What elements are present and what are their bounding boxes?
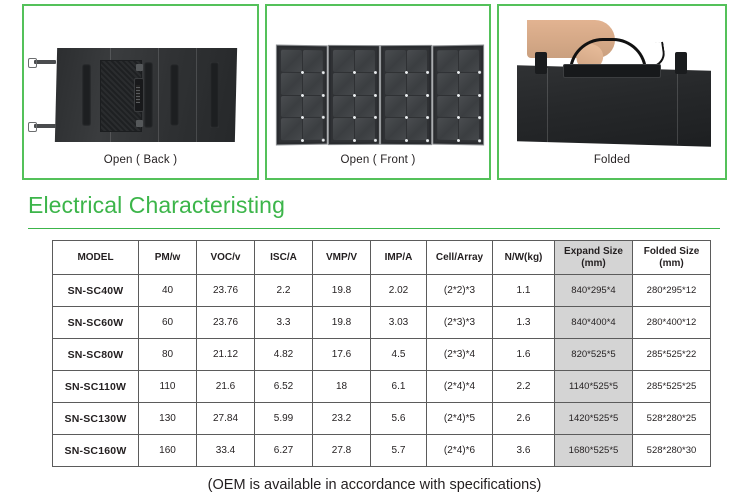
- cell-expand-size: 820*525*5: [555, 339, 633, 371]
- table-row: SN-SC130W 130 27.84 5.99 23.2 5.6 (2*4)*…: [53, 403, 711, 435]
- cell-pm: 60: [139, 307, 197, 339]
- cell-folded-size: 528*280*30: [633, 435, 711, 467]
- gallery-caption-open-back: Open ( Back ): [24, 154, 257, 166]
- column-header-expand-size-line2: (mm): [581, 258, 605, 269]
- cell-pm: 130: [139, 403, 197, 435]
- cell-vmp: 17.6: [313, 339, 371, 371]
- table-row: SN-SC110W 110 21.6 6.52 18 6.1 (2*4)*4 2…: [53, 371, 711, 403]
- column-header-cell-array: Cell/Array: [427, 241, 493, 275]
- cell-cell-array: (2*4)*5: [427, 403, 493, 435]
- cell-model: SN-SC40W: [53, 275, 139, 307]
- cell-isc: 2.2: [255, 275, 313, 307]
- table-body: SN-SC40W 40 23.76 2.2 19.8 2.02 (2*2)*3 …: [53, 275, 711, 467]
- column-header-model: MODEL: [53, 241, 139, 275]
- cell-vmp: 23.2: [313, 403, 371, 435]
- cell-expand-size: 840*400*4: [555, 307, 633, 339]
- column-header-pm: PM/w: [139, 241, 197, 275]
- table-row: SN-SC160W 160 33.4 6.27 27.8 5.7 (2*4)*6…: [53, 435, 711, 467]
- cell-voc: 27.84: [197, 403, 255, 435]
- cell-pm: 110: [139, 371, 197, 403]
- table-row: SN-SC60W 60 23.76 3.3 19.8 3.03 (2*3)*3 …: [53, 307, 711, 339]
- column-header-voc: VOC/v: [197, 241, 255, 275]
- cell-folded-size: 528*280*25: [633, 403, 711, 435]
- section-title: Electrical Characteristing: [28, 192, 285, 219]
- cell-net-weight: 1.6: [493, 339, 555, 371]
- column-header-expand-size: Expand Size (mm): [555, 241, 633, 275]
- table-header-row: MODEL PM/w VOC/v ISC/A VMP/V IMP/A Cell/…: [53, 241, 711, 275]
- cell-vmp: 27.8: [313, 435, 371, 467]
- cell-voc: 23.76: [197, 307, 255, 339]
- cell-isc: 3.3: [255, 307, 313, 339]
- cell-net-weight: 1.1: [493, 275, 555, 307]
- table-row: SN-SC40W 40 23.76 2.2 19.8 2.02 (2*2)*3 …: [53, 275, 711, 307]
- column-header-expand-size-line1: Expand Size: [564, 246, 623, 257]
- cell-net-weight: 2.2: [493, 371, 555, 403]
- cell-voc: 23.76: [197, 275, 255, 307]
- column-header-isc: ISC/A: [255, 241, 313, 275]
- cell-vmp: 18: [313, 371, 371, 403]
- electrical-characteristics-table: MODEL PM/w VOC/v ISC/A VMP/V IMP/A Cell/…: [52, 240, 711, 467]
- cell-folded-size: 280*400*12: [633, 307, 711, 339]
- cell-expand-size: 1140*525*5: [555, 371, 633, 403]
- cell-voc: 21.6: [197, 371, 255, 403]
- cell-imp: 2.02: [371, 275, 427, 307]
- cell-net-weight: 1.3: [493, 307, 555, 339]
- column-header-folded-size: Folded Size (mm): [633, 241, 711, 275]
- gallery-caption-folded: Folded: [499, 154, 725, 166]
- cell-pm: 40: [139, 275, 197, 307]
- column-header-vmp: VMP/V: [313, 241, 371, 275]
- gallery-panel-folded: Folded: [497, 4, 727, 180]
- gallery-caption-open-front: Open ( Front ): [267, 154, 489, 166]
- solar-panel-folded-photo: [499, 6, 725, 154]
- oem-footnote: (OEM is available in accordance with spe…: [0, 477, 749, 493]
- cell-imp: 4.5: [371, 339, 427, 371]
- cell-folded-size: 285*525*25: [633, 371, 711, 403]
- gallery-panel-open-back: Open ( Back ): [22, 4, 259, 180]
- cell-model: SN-SC130W: [53, 403, 139, 435]
- cell-model: SN-SC60W: [53, 307, 139, 339]
- cell-imp: 5.6: [371, 403, 427, 435]
- column-header-net-weight: N/W(kg): [493, 241, 555, 275]
- column-header-folded-size-line1: Folded Size: [644, 246, 700, 257]
- section-title-underline: [28, 228, 720, 229]
- cell-imp: 5.7: [371, 435, 427, 467]
- cell-cell-array: (2*2)*3: [427, 275, 493, 307]
- table-row: SN-SC80W 80 21.12 4.82 17.6 4.5 (2*3)*4 …: [53, 339, 711, 371]
- cell-folded-size: 280*295*12: [633, 275, 711, 307]
- cell-isc: 5.99: [255, 403, 313, 435]
- cell-cell-array: (2*4)*6: [427, 435, 493, 467]
- cell-vmp: 19.8: [313, 275, 371, 307]
- cell-cell-array: (2*3)*4: [427, 339, 493, 371]
- cell-expand-size: 1680*525*5: [555, 435, 633, 467]
- cell-model: SN-SC80W: [53, 339, 139, 371]
- cell-model: SN-SC110W: [53, 371, 139, 403]
- cell-isc: 6.27: [255, 435, 313, 467]
- cell-net-weight: 3.6: [493, 435, 555, 467]
- gallery-panel-open-front: Open ( Front ): [265, 4, 491, 180]
- solar-panel-open-back-photo: [24, 6, 257, 154]
- cell-vmp: 19.8: [313, 307, 371, 339]
- cell-voc: 33.4: [197, 435, 255, 467]
- cell-cell-array: (2*4)*4: [427, 371, 493, 403]
- cell-imp: 6.1: [371, 371, 427, 403]
- cell-net-weight: 2.6: [493, 403, 555, 435]
- cell-expand-size: 840*295*4: [555, 275, 633, 307]
- solar-panel-open-front-photo: [267, 6, 489, 154]
- product-image-gallery: Open ( Back ): [22, 4, 727, 180]
- cell-isc: 6.52: [255, 371, 313, 403]
- column-header-imp: IMP/A: [371, 241, 427, 275]
- cell-model: SN-SC160W: [53, 435, 139, 467]
- cell-expand-size: 1420*525*5: [555, 403, 633, 435]
- cell-isc: 4.82: [255, 339, 313, 371]
- cell-pm: 80: [139, 339, 197, 371]
- cell-voc: 21.12: [197, 339, 255, 371]
- cell-folded-size: 285*525*22: [633, 339, 711, 371]
- cell-cell-array: (2*3)*3: [427, 307, 493, 339]
- cell-imp: 3.03: [371, 307, 427, 339]
- cell-pm: 160: [139, 435, 197, 467]
- column-header-folded-size-line2: (mm): [659, 258, 683, 269]
